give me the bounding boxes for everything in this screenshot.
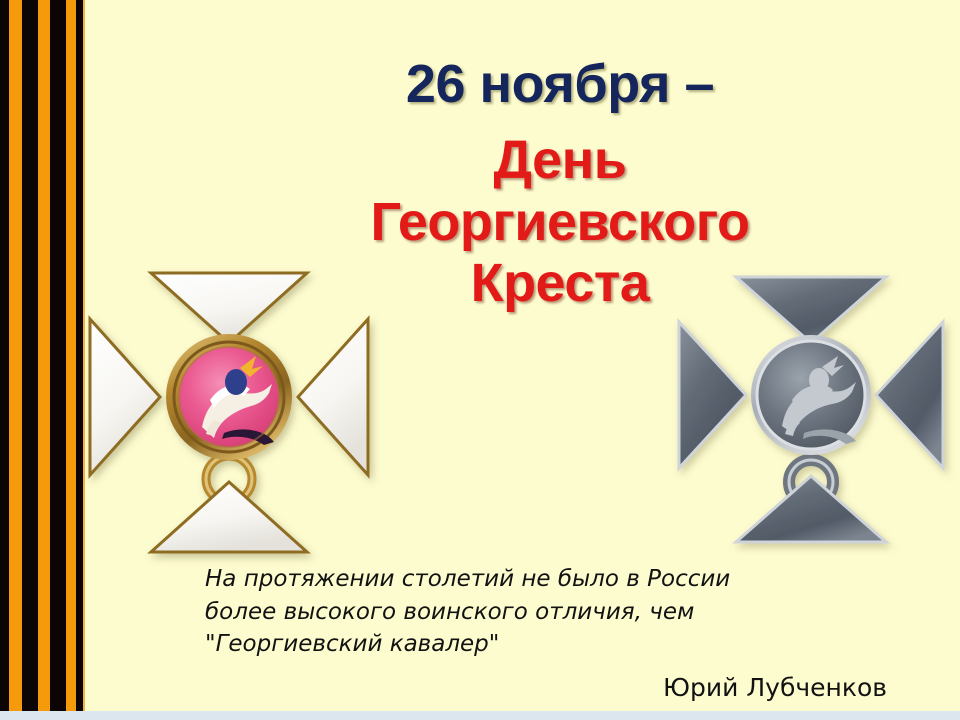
ribbon-stripe-1 [9,0,22,720]
headline-red-line-1: День [250,130,870,192]
headline-red-line-2: Георгиевского [250,192,870,254]
ribbon-stripe-2 [22,0,38,720]
st-george-medallion [166,334,292,460]
st-george-medallion [751,335,871,455]
slide-canvas: 26 ноября – День Георгиевского Креста На… [0,0,960,720]
headline-date: 26 ноября – [250,56,870,112]
headline-block: 26 ноября – День Георгиевского Креста [250,56,870,315]
quote-line-3: "Георгиевский кавалер" [205,628,905,661]
quote-line-1: На протяжении столетий не было в России [205,563,905,596]
quote-line-2: более высокого воинского отличия, чем [205,596,905,629]
quote-block: На протяжении столетий не было в России … [205,563,905,702]
ribbon-stripe-3 [38,0,50,720]
quote-author: Юрий Лубченков [205,673,905,702]
headline-red-line-3: Креста [250,253,870,315]
bottom-band [0,711,960,720]
ribbon-stripe-0 [0,0,9,720]
